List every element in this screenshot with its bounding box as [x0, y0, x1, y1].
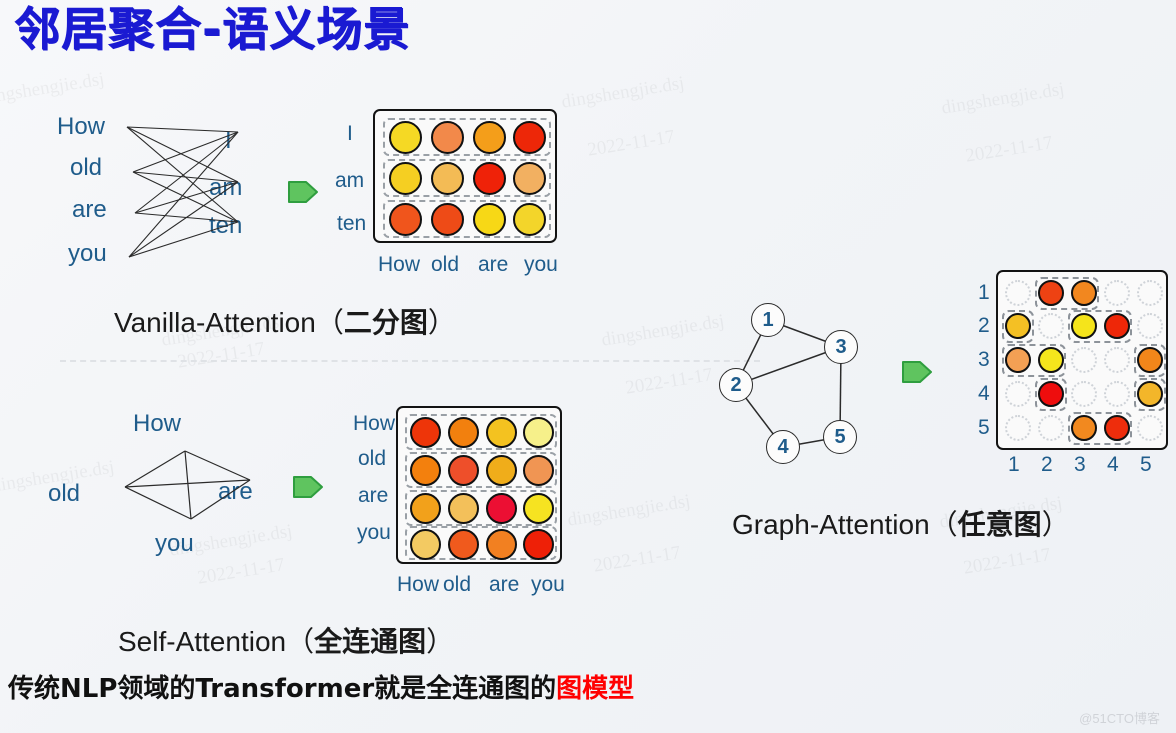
graph-node-3: 3	[824, 330, 858, 364]
caption-bold: 全连通图	[314, 626, 426, 657]
matrix-cell-empty	[1104, 381, 1130, 407]
self-node-label-how: How	[133, 410, 181, 438]
caption-text: Vanilla-Attention（	[114, 307, 344, 338]
matrix-cell	[431, 162, 464, 195]
graph-node-4: 4	[766, 430, 800, 464]
matrix-cell-empty	[1137, 313, 1163, 339]
matrix-cell-empty	[1005, 280, 1031, 306]
graph-matrix-col-label-1: 1	[1008, 453, 1020, 477]
vanilla-matrix-row-label-i: I	[347, 122, 353, 146]
matrix-cell	[1104, 415, 1130, 441]
graph-matrix-col-label-4: 4	[1107, 453, 1119, 477]
caption-end: ）	[1042, 509, 1070, 540]
vanilla-source-word-you: you	[68, 240, 107, 268]
matrix-cell	[523, 493, 554, 524]
matrix-cell	[389, 203, 422, 236]
complete-graph-k4-edges	[112, 447, 262, 527]
vanilla-source-word-are: are	[72, 196, 107, 224]
graph-node-2: 2	[719, 368, 753, 402]
graph-matrix-row-label-4: 4	[978, 382, 990, 406]
graph-node-1: 1	[751, 303, 785, 337]
self-matrix-row-label-are: are	[358, 484, 388, 508]
vanilla-attention-matrix	[373, 109, 557, 243]
graph-matrix-row-label-1: 1	[978, 281, 990, 305]
matrix-cell	[1038, 347, 1064, 373]
caption-bold: 任意图	[958, 509, 1042, 540]
self-matrix-col-label-are: are	[489, 573, 519, 597]
vanilla-matrix-row-label-am: am	[335, 169, 364, 193]
matrix-cell	[1071, 313, 1097, 339]
matrix-cell	[513, 162, 546, 195]
matrix-cell	[473, 162, 506, 195]
matrix-cell	[448, 493, 479, 524]
graph-matrix-col-label-3: 3	[1074, 453, 1086, 477]
self-node-label-old: old	[48, 480, 80, 508]
graph-attention-matrix	[996, 270, 1168, 450]
matrix-cell	[513, 203, 546, 236]
matrix-cell	[410, 417, 441, 448]
graph-node-5: 5	[823, 420, 857, 454]
bottom-note: 传统NLP领域的Transformer就是全连通图的图模型	[8, 668, 634, 705]
panel-graph-attention: 1 2 3 4 5 1 2 3 4 5	[680, 260, 1176, 560]
matrix-cell	[1137, 347, 1163, 373]
graph-matrix-col-label-5: 5	[1140, 453, 1152, 477]
matrix-cell-empty	[1071, 347, 1097, 373]
matrix-cell	[1071, 415, 1097, 441]
caption-text: Self-Attention（	[118, 626, 314, 657]
self-attention-matrix	[396, 406, 562, 564]
matrix-cell	[473, 203, 506, 236]
vanilla-matrix-col-label-how: How	[378, 253, 420, 277]
matrix-cell	[513, 121, 546, 154]
matrix-cell	[486, 493, 517, 524]
caption-bold: 二分图	[344, 307, 428, 338]
matrix-cell-empty	[1005, 381, 1031, 407]
vanilla-matrix-row-label-ten: ten	[337, 212, 366, 236]
self-matrix-col-label-you: you	[531, 573, 565, 597]
self-node-label-you: you	[155, 530, 194, 558]
vanilla-matrix-col-label-old: old	[431, 253, 459, 277]
graph-matrix-col-label-2: 2	[1041, 453, 1053, 477]
matrix-cell	[410, 493, 441, 524]
graph-attention-caption: Graph-Attention（任意图）	[732, 503, 1070, 543]
matrix-cell	[1071, 280, 1097, 306]
vanilla-source-word-old: old	[70, 154, 102, 182]
matrix-cell	[389, 162, 422, 195]
vanilla-matrix-col-label-you: you	[524, 253, 558, 277]
panel-self-attention: How old are you How old are you	[0, 390, 620, 670]
matrix-cell	[1005, 347, 1031, 373]
caption-text: Graph-Attention（	[732, 509, 958, 540]
section-divider	[60, 360, 760, 362]
matrix-cell-empty	[1137, 415, 1163, 441]
vanilla-attention-caption: Vanilla-Attention（二分图）	[114, 301, 456, 341]
self-matrix-row-label-you: you	[357, 521, 391, 545]
watermark-corner: @51CTO博客	[1079, 708, 1160, 727]
matrix-cell	[410, 455, 441, 486]
matrix-cell-empty	[1137, 280, 1163, 306]
matrix-cell	[523, 417, 554, 448]
slide-canvas: dingshengjie.dsj dingshengjie.dsj 2022-1…	[0, 0, 1176, 733]
matrix-cell	[486, 417, 517, 448]
self-matrix-row-label-how: How	[353, 412, 395, 436]
matrix-cell	[523, 455, 554, 486]
graph-matrix-row-label-3: 3	[978, 348, 990, 372]
self-matrix-row-label-old: old	[358, 447, 386, 471]
matrix-cell-empty	[1104, 280, 1130, 306]
graph-matrix-row-label-2: 2	[978, 314, 990, 338]
matrix-cell	[448, 417, 479, 448]
bottom-note-highlight: 图模型	[556, 674, 634, 704]
matrix-cell-empty	[1005, 415, 1031, 441]
vanilla-matrix-col-label-are: are	[478, 253, 508, 277]
panel-vanilla-attention: How old are you I am ten	[0, 0, 600, 350]
matrix-cell	[1005, 313, 1031, 339]
matrix-cell	[486, 529, 517, 560]
bottom-note-text: 传统NLP领域的Transformer就是全连通图的	[8, 674, 556, 704]
matrix-cell-empty	[1071, 381, 1097, 407]
graph-matrix-row-label-5: 5	[978, 416, 990, 440]
matrix-cell-empty	[1104, 347, 1130, 373]
matrix-cell	[1104, 313, 1130, 339]
matrix-cell	[448, 455, 479, 486]
matrix-cell-empty	[1038, 415, 1064, 441]
matrix-cell	[1137, 381, 1163, 407]
matrix-cell	[473, 121, 506, 154]
self-matrix-col-label-how: How	[397, 573, 439, 597]
matrix-cell-empty	[1038, 313, 1064, 339]
watermark-author: dingshengjie.dsj	[940, 79, 1066, 120]
matrix-cell	[389, 121, 422, 154]
bipartite-graph-edges	[125, 110, 245, 270]
matrix-cell	[431, 203, 464, 236]
vanilla-source-word-how: How	[57, 113, 105, 141]
caption-end: ）	[426, 626, 454, 657]
matrix-cell	[486, 455, 517, 486]
caption-end: ）	[428, 307, 456, 338]
self-attention-caption: Self-Attention（全连通图）	[118, 620, 454, 660]
matrix-cell	[1038, 381, 1064, 407]
self-matrix-col-label-old: old	[443, 573, 471, 597]
matrix-cell	[523, 529, 554, 560]
matrix-cell	[431, 121, 464, 154]
watermark-date: 2022-11-17	[964, 132, 1054, 167]
matrix-cell	[1038, 280, 1064, 306]
matrix-cell	[448, 529, 479, 560]
matrix-cell	[410, 529, 441, 560]
